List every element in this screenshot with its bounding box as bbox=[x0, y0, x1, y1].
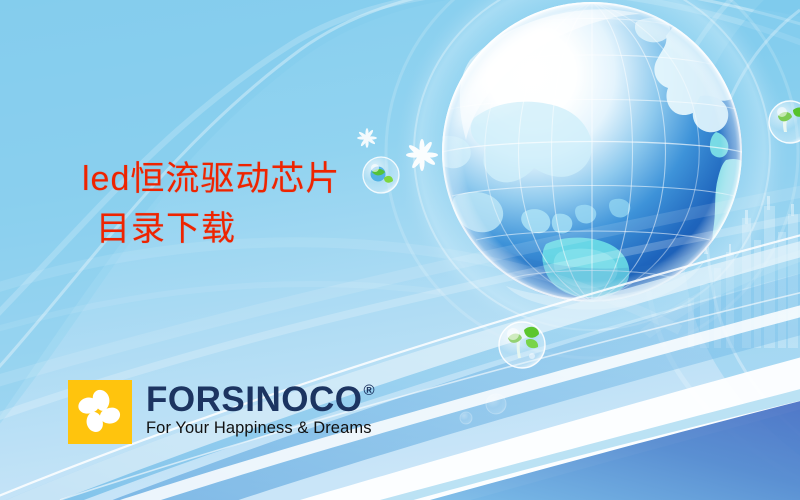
headline-line-1: led恒流驱动芯片 bbox=[82, 158, 340, 202]
brand-wordmark: FORSINOCO® bbox=[146, 382, 375, 417]
brand-logo: FORSINOCO® For Your Happiness & Dreams bbox=[68, 380, 375, 444]
bubble-globe-icon bbox=[363, 157, 399, 193]
headline-line-2: 目录下载 bbox=[96, 208, 340, 252]
page-title: led恒流驱动芯片 目录下载 bbox=[82, 158, 340, 251]
four-petal-pinwheel-flower-icon bbox=[68, 380, 132, 444]
wordmark-text: FORSINOCO bbox=[146, 382, 362, 417]
registered-trademark-symbol: ® bbox=[363, 383, 375, 398]
banner-canvas: led恒流驱动芯片 目录下载 FORSINOCO® For Your Happi… bbox=[0, 0, 800, 500]
brand-tagline: For Your Happiness & Dreams bbox=[146, 420, 375, 437]
bubble-sprout-icon bbox=[499, 322, 545, 368]
logo-text-block: FORSINOCO® For Your Happiness & Dreams bbox=[146, 382, 375, 437]
